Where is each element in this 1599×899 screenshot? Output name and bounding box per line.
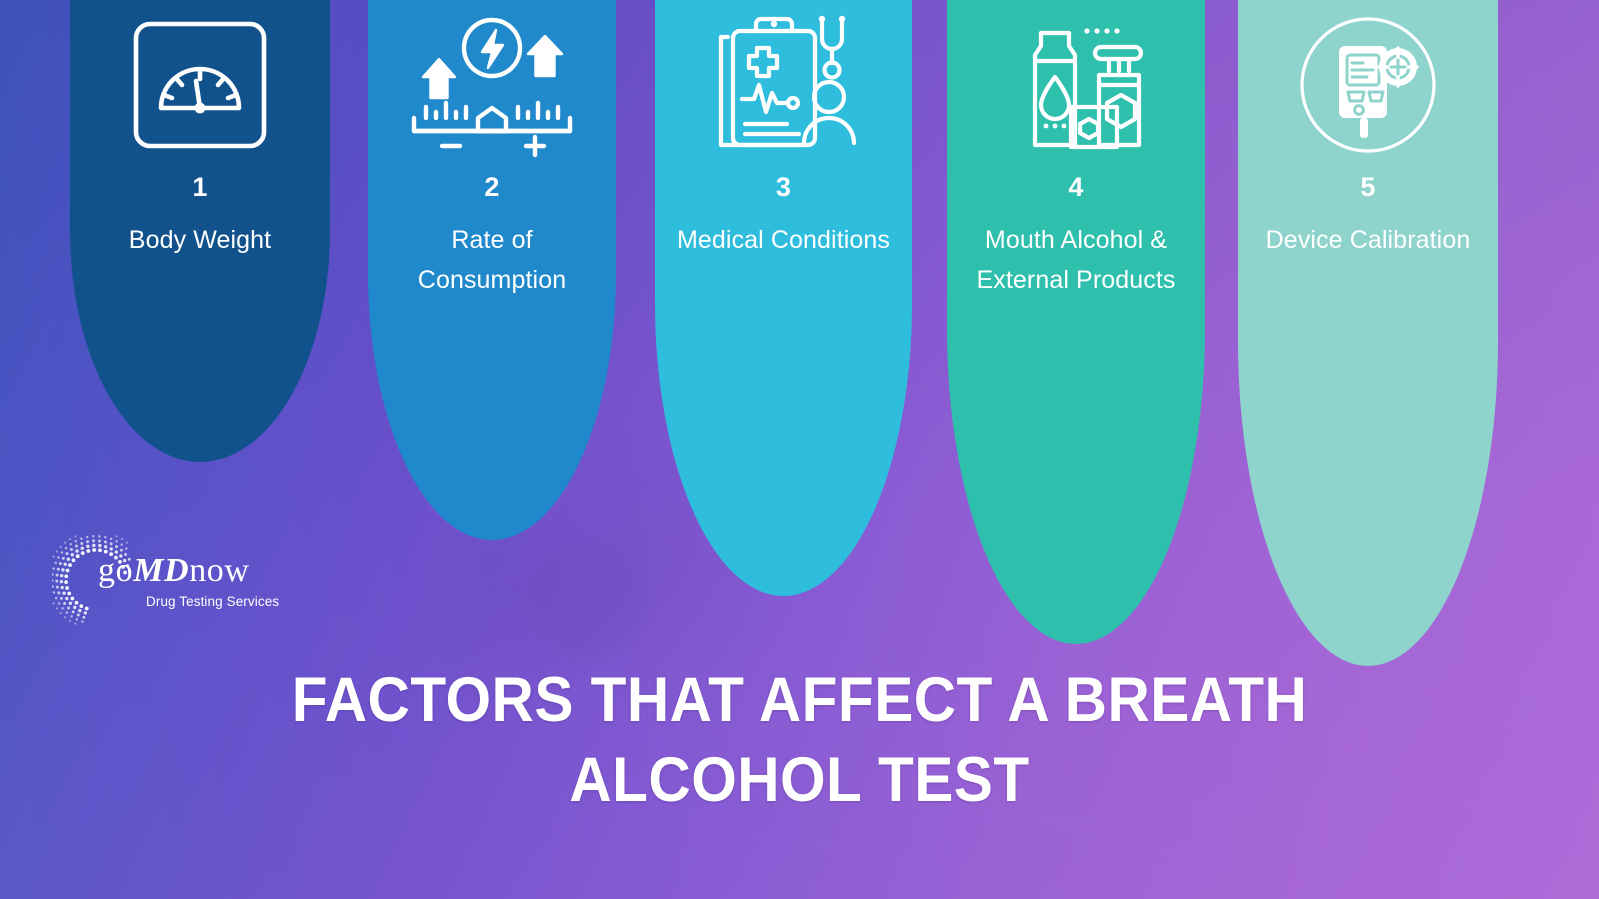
factor-column-body-weight[interactable]: 1 Body Weight (70, 0, 330, 462)
medical-clipboard-icon (655, 0, 912, 170)
factor-number: 4 (947, 174, 1205, 201)
factor-label: Medical Conditions (655, 221, 912, 261)
factor-label: Rate of Consumption (368, 221, 616, 300)
factor-number: 1 (70, 174, 330, 201)
bottles-products-icon (947, 0, 1205, 170)
brand-logo[interactable]: goMDnow Drug Testing Services (52, 534, 302, 630)
infographic-canvas: 1 Body Weight (0, 0, 1599, 899)
intensity-slider-icon (368, 0, 616, 170)
title-line-2: ALCOHOL TEST (56, 740, 1543, 820)
factor-label: Body Weight (70, 221, 330, 261)
factor-number: 2 (368, 174, 616, 201)
bathroom-scale-icon (70, 0, 330, 170)
page-title: FACTORS THAT AFFECT A BREATH ALCOHOL TES… (56, 660, 1543, 820)
title-line-1: FACTORS THAT AFFECT A BREATH (56, 660, 1543, 740)
factor-label: Mouth Alcohol & External Products (947, 221, 1205, 300)
factor-number: 5 (1238, 174, 1498, 201)
factor-number: 3 (655, 174, 912, 201)
factor-column-rate-of-consumption[interactable]: 2 Rate of Consumption (368, 0, 616, 540)
factor-column-mouth-alcohol[interactable]: 4 Mouth Alcohol & External Products (947, 0, 1205, 644)
factor-label: Device Calibration (1238, 221, 1498, 261)
logo-tagline: Drug Testing Services (146, 594, 279, 609)
breathalyzer-calibration-icon (1238, 0, 1498, 170)
factor-column-device-calibration[interactable]: 5 Device Calibration (1238, 0, 1498, 666)
logo-wordmark: goMDnow (98, 552, 250, 590)
factor-column-medical-conditions[interactable]: 3 Medical Conditions (655, 0, 912, 596)
